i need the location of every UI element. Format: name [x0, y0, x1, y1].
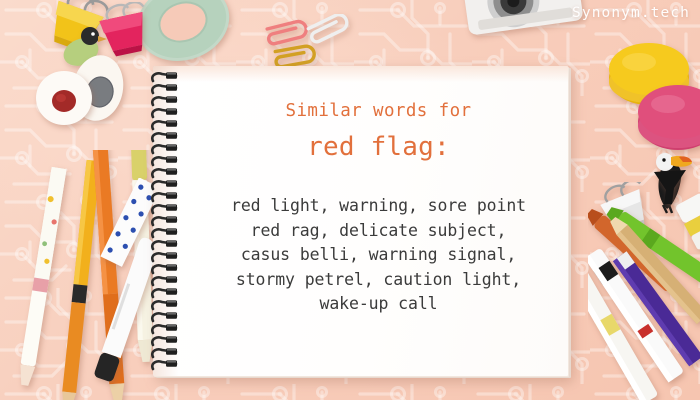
macaron-pink [632, 78, 700, 154]
synonym-list: red light, warning, sore pointred rag, d… [231, 194, 526, 317]
synonym-line: casus belli, warning signal, [231, 243, 526, 268]
card-query-word: red flag: [307, 132, 450, 162]
synonym-line: stormy petrel, caution light, [231, 268, 526, 293]
watermark-logo: Synonym.tech [572, 5, 690, 21]
card-headline: Similar words for [286, 101, 472, 121]
black-pen-tip [650, 170, 690, 206]
synonym-line: red rag, delicate subject, [231, 219, 526, 244]
paper-clips [258, 14, 363, 72]
synonym-line: red light, warning, sore point [231, 194, 526, 219]
stone-red [33, 68, 95, 128]
synonym-card: Similar words for red flag: red light, w… [153, 66, 568, 376]
camera [455, 0, 590, 48]
synonym-line: wake-up call [231, 292, 526, 317]
markers [588, 190, 700, 400]
